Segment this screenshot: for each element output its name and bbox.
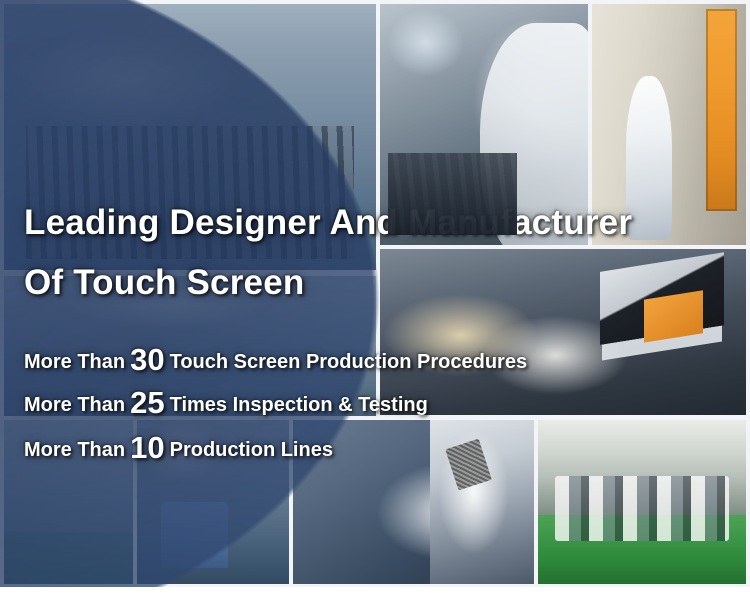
bottom-white-strip [0, 587, 750, 600]
photo-equipment-racks [4, 420, 133, 584]
photo-cnc-machine-operator [380, 4, 588, 245]
photo-module-assembly-bench [380, 249, 746, 415]
photo-oven-control-panel [592, 4, 746, 245]
photo-cleanroom-stations [4, 276, 376, 416]
photo-collage [0, 0, 750, 600]
photo-factory-floor-wide [4, 4, 376, 270]
photo-production-line-green [538, 420, 746, 584]
company-capability-banner: Leading Designer And Manufacturer Of Tou… [0, 0, 750, 600]
photo-gloved-inspection [430, 420, 534, 584]
photo-operator-on-stool [137, 420, 289, 584]
